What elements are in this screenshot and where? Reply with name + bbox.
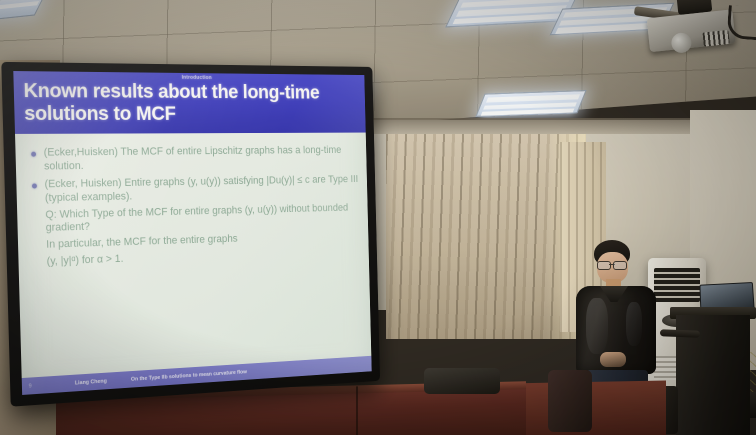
screen-bezel: Introduction Known results about the lon…	[1, 62, 380, 407]
projected-slide: Introduction Known results about the lon…	[13, 71, 371, 395]
lecture-hall-photo: Introduction Known results about the lon…	[0, 0, 756, 435]
window-curtain	[386, 134, 586, 339]
desk-panel-seam	[356, 386, 358, 435]
presentation-screen[interactable]: Introduction Known results about the lon…	[1, 62, 380, 407]
slide-footer-talk-title: On the Type IIb solutions to mean curvat…	[131, 369, 247, 382]
bullet-text: (Ecker,Huisken) The MCF of entire Lipsch…	[44, 145, 342, 173]
eyeglasses-icon	[597, 261, 627, 268]
projector-lens	[670, 32, 692, 54]
slide-title-bar: Introduction Known results about the lon…	[13, 71, 365, 134]
bullet-text: (Ecker, Huisken) Entire graphs (y, u(y))…	[44, 174, 358, 204]
speaker-hands	[600, 352, 626, 367]
bullet-icon	[32, 183, 37, 188]
list-item: (Ecker,Huisken) The MCF of entire Lipsch…	[31, 145, 358, 175]
projector-vent	[702, 30, 729, 47]
bullet-icon	[31, 152, 36, 157]
bag-on-desk	[424, 368, 500, 394]
jacket-highlight	[586, 298, 608, 354]
slide-title: Known results about the long-time soluti…	[14, 79, 366, 127]
slide-bullet-list: (Ecker,Huisken) The MCF of entire Lipsch…	[31, 145, 361, 270]
slide-page-number: 9	[22, 380, 75, 389]
ceiling-light-panel	[475, 90, 586, 117]
slide-footer-author: Liang Cheng	[75, 378, 107, 386]
jacket-highlight	[626, 302, 642, 346]
slide-body: (Ecker,Huisken) The MCF of entire Lipsch…	[15, 133, 369, 271]
list-item: (Ecker, Huisken) Entire graphs (y, u(y))…	[32, 174, 361, 270]
chair	[548, 370, 592, 432]
